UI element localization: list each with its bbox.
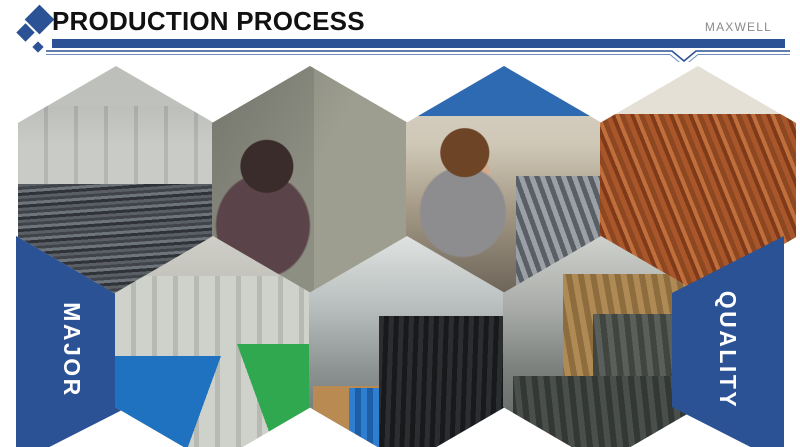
- diamond-small-icon: [32, 41, 43, 52]
- title-rule-thick: [52, 39, 785, 48]
- production-process-slide: PRODUCTION PROCESS MAXWELL MAJOR: [0, 0, 800, 447]
- page-title: PRODUCTION PROCESS: [52, 6, 365, 36]
- brand-name: MAXWELL: [705, 20, 772, 34]
- photo-honeycomb: MAJOR QUALITY: [0, 58, 800, 447]
- header: PRODUCTION PROCESS MAXWELL: [0, 0, 800, 62]
